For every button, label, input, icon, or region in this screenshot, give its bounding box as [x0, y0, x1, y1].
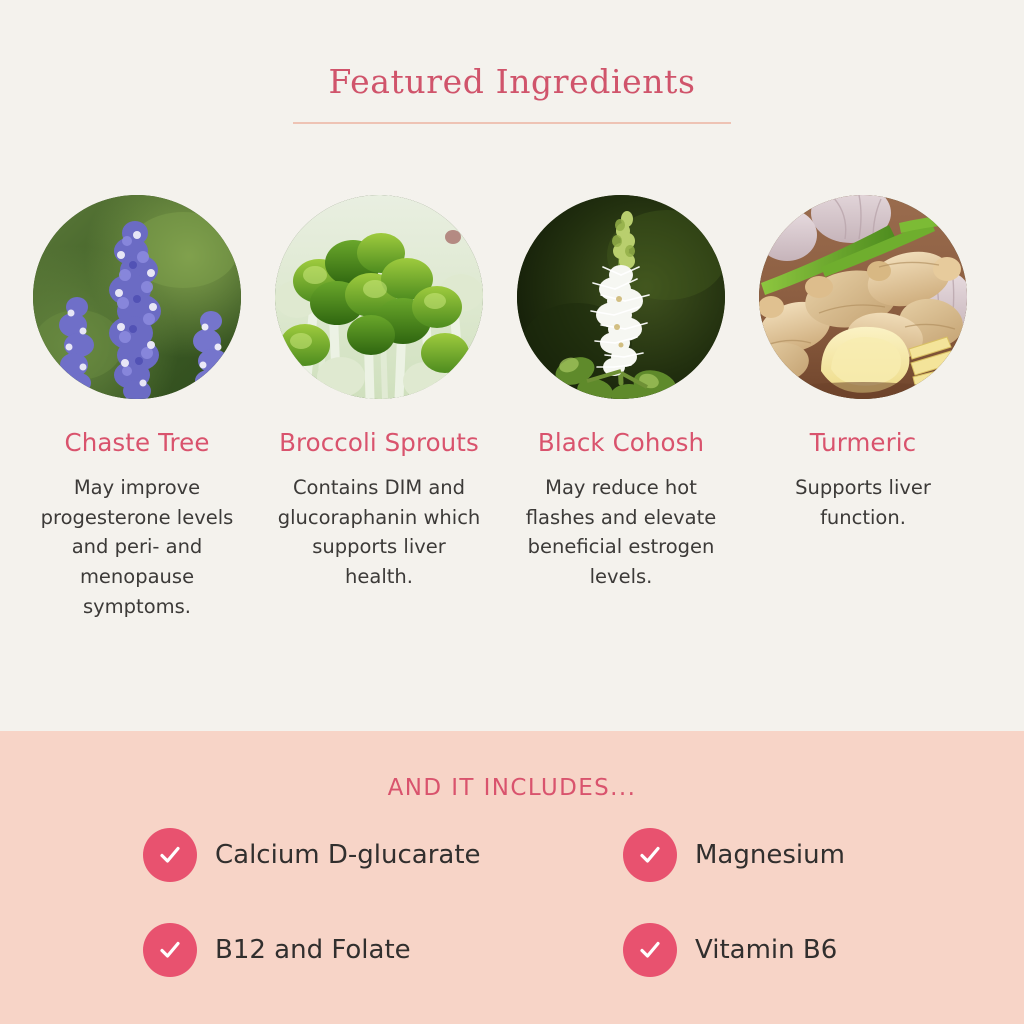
- ingredient-card-broccoli-sprouts: Broccoli Sprouts Contains DIM and glucor…: [275, 195, 483, 621]
- includes-item-label: B12 and Folate: [215, 937, 411, 963]
- includes-item-label: Magnesium: [695, 842, 845, 868]
- check-icon: [623, 828, 677, 882]
- title-divider: [293, 122, 731, 124]
- ingredient-card-turmeric: Turmeric Supports liver function.: [759, 195, 967, 621]
- ingredient-card-chaste-tree: Chaste Tree May improve progesterone lev…: [33, 195, 241, 621]
- turmeric-photo: [759, 195, 967, 399]
- includes-section: AND IT INCLUDES... Calcium D-glucarate M…: [0, 731, 1024, 1024]
- list-item: Calcium D-glucarate: [143, 828, 623, 882]
- ingredient-name: Chaste Tree: [64, 429, 209, 457]
- page-title: Featured Ingredients: [0, 62, 1024, 101]
- list-item: Vitamin B6: [623, 923, 903, 977]
- featured-ingredients-page: Featured Ingredients: [0, 0, 1024, 1024]
- includes-item-label: Calcium D-glucarate: [215, 842, 481, 868]
- ingredient-card-list: Chaste Tree May improve progesterone lev…: [33, 195, 991, 621]
- includes-title: AND IT INCLUDES...: [0, 775, 1024, 801]
- chaste-tree-photo: [33, 195, 241, 399]
- ingredient-description: Supports liver function.: [760, 473, 966, 532]
- featured-ingredients-section: Featured Ingredients: [0, 0, 1024, 731]
- ingredient-description: May improve progesterone levels and peri…: [34, 473, 240, 621]
- includes-list: Calcium D-glucarate Magnesium B12 and Fo…: [143, 828, 903, 977]
- ingredient-name: Turmeric: [810, 429, 917, 457]
- check-icon: [143, 828, 197, 882]
- ingredient-description: May reduce hot flashes and elevate benef…: [518, 473, 724, 592]
- ingredient-name: Broccoli Sprouts: [279, 429, 479, 457]
- list-item: Magnesium: [623, 828, 903, 882]
- check-icon: [143, 923, 197, 977]
- black-cohosh-photo: [517, 195, 725, 399]
- list-item: B12 and Folate: [143, 923, 623, 977]
- broccoli-sprouts-photo: [275, 195, 483, 399]
- ingredient-description: Contains DIM and glucoraphanin which sup…: [276, 473, 482, 592]
- ingredient-name: Black Cohosh: [538, 429, 704, 457]
- ingredient-card-black-cohosh: Black Cohosh May reduce hot flashes and …: [517, 195, 725, 621]
- check-icon: [623, 923, 677, 977]
- includes-item-label: Vitamin B6: [695, 937, 837, 963]
